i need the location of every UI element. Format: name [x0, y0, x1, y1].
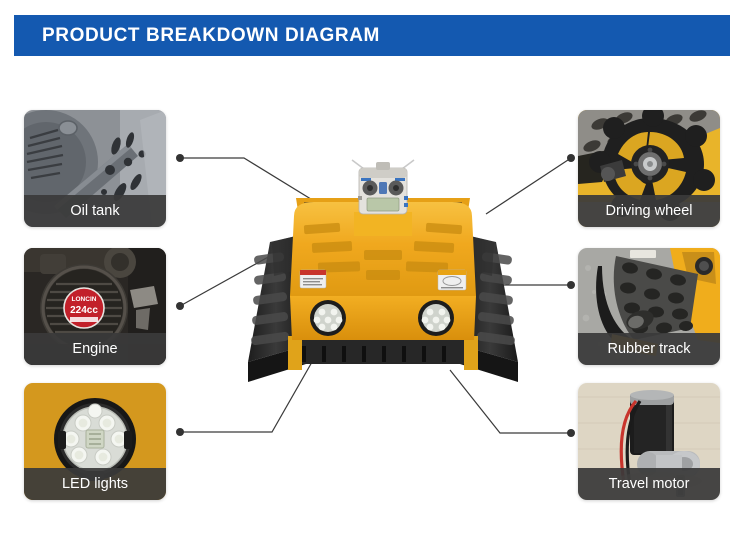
caution-decal-right [438, 270, 466, 290]
card-led-lights[interactable]: LED lights [24, 383, 166, 500]
connector-dot-led-lights [176, 428, 184, 436]
connector-dot-driving-wheel [567, 154, 575, 162]
card-caption-oil-tank: Oil tank [24, 195, 166, 227]
led-lamp-left [310, 300, 346, 336]
header-bar: PRODUCT BREAKDOWN DIAGRAM [14, 15, 730, 56]
card-engine[interactable]: LONCIN 224cc Engine [24, 248, 166, 365]
machine-underframe [288, 336, 478, 370]
card-caption-driving-wheel: Driving wheel [578, 195, 720, 227]
page-title: PRODUCT BREAKDOWN DIAGRAM [42, 25, 380, 47]
connector-dot-rubber-track [567, 281, 575, 289]
warning-decal-left [300, 270, 326, 288]
card-caption-led-lights: LED lights [24, 468, 166, 500]
card-travel-motor[interactable]: Travel motor [578, 383, 720, 500]
card-oil-tank[interactable]: Oil tank [24, 110, 166, 227]
machine-illustration [218, 150, 548, 410]
engine-displacement-text: 224cc [70, 305, 98, 316]
card-caption-travel-motor: Travel motor [578, 468, 720, 500]
product-machine-photo [218, 150, 548, 410]
remote-controller [352, 160, 414, 236]
led-lamp-right [418, 300, 454, 336]
connector-dot-engine [176, 302, 184, 310]
card-caption-engine: Engine [24, 333, 166, 365]
engine-brand-text: LONCIN [72, 296, 97, 303]
connector-dot-travel-motor [567, 429, 575, 437]
card-caption-rubber-track: Rubber track [578, 333, 720, 365]
connector-dot-oil-tank [176, 154, 184, 162]
card-rubber-track[interactable]: Rubber track [578, 248, 720, 365]
card-driving-wheel[interactable]: Driving wheel [578, 110, 720, 227]
